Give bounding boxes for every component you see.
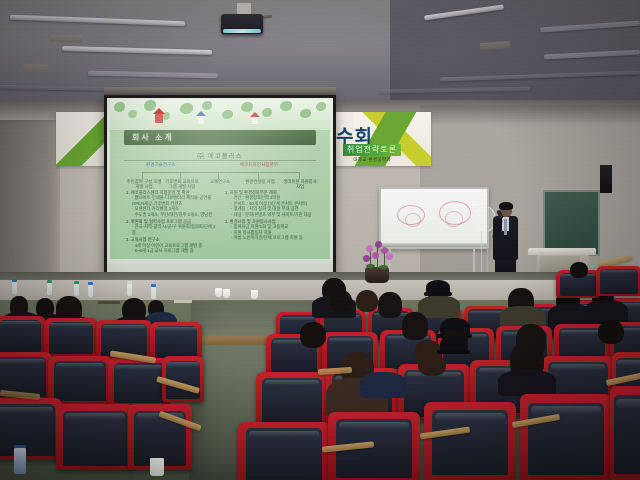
water-bottle <box>47 283 52 295</box>
ceiling-air-vent <box>50 34 82 42</box>
slide-bullet: · 5~6세 1급 교사 프로그램 개발 중 <box>126 248 218 253</box>
slide-house-roof <box>196 111 206 116</box>
slide-divider <box>124 160 316 161</box>
stage-item <box>174 300 192 303</box>
auditorium-seat <box>48 356 112 404</box>
water-bottle <box>127 284 132 296</box>
org-caption-left: 환경기술연구소 <box>146 162 176 168</box>
audience-shoulders <box>498 370 556 396</box>
banner-right-subtitle: 대학교 환경공학과 <box>353 157 391 163</box>
audience-head <box>300 322 326 348</box>
audience-head <box>402 312 428 340</box>
chalkboard-recess <box>543 190 600 256</box>
orchid-bloom <box>366 245 373 252</box>
audience-shoulders <box>360 372 406 398</box>
audience-head <box>598 320 624 344</box>
slide-house-roof <box>250 112 260 117</box>
slide-house-icon <box>198 116 204 124</box>
lectern-top <box>528 248 596 255</box>
slide-bullets-right: 1. 자원 및 환경정화부문 계획· 연간 : 환경정화인력 2억원· 콘서트 … <box>225 188 320 241</box>
orchid-leaf <box>366 264 375 268</box>
banner-right-band: 취업전략토론 <box>343 144 401 156</box>
paper-cup <box>215 288 222 297</box>
slide-bullet: · 전국·지역·광역 시/군/구 위원회/협의회/단체 3종 <box>126 224 218 235</box>
orchid-leaf <box>379 265 388 269</box>
baseball-cap <box>440 336 468 352</box>
auditorium-photo: 200 우수취업 일시 2009. 수회 취업전략토론 대학교 환경공학과 <box>0 0 640 480</box>
auditorium-seat <box>610 386 640 480</box>
slide-bullet: · 여름 노인복지관/단체 프로그램 지원 등 <box>225 235 320 240</box>
slide-subtitle: ㈜ 에코플러스 <box>110 150 330 160</box>
slide-house-icon <box>252 117 258 124</box>
orchid-bloom <box>363 255 370 262</box>
slide-org-chart: 환경기술연구소 에코디자인사업본부 주민참여 구성 모델개발 사업 기후변화 교… <box>124 162 316 184</box>
presenter-tie <box>504 219 507 235</box>
presenter-hair <box>499 202 513 210</box>
auditorium-seat <box>520 394 612 480</box>
paper-cup <box>251 290 258 299</box>
audience-head <box>356 290 378 312</box>
ceiling-projector <box>221 14 263 34</box>
slide-house-icon <box>155 114 163 123</box>
auditorium-seat <box>238 422 330 480</box>
water-bottle <box>12 282 17 294</box>
auditorium-seat <box>0 316 46 354</box>
auditorium-seat <box>256 372 328 428</box>
projector-lens <box>223 29 261 33</box>
baseball-cap <box>426 280 450 294</box>
whiteboard-stand <box>473 247 475 275</box>
ceiling-air-vent <box>22 64 48 71</box>
paper-cup <box>223 289 230 298</box>
audience-head <box>418 354 446 376</box>
auditorium-seat <box>0 398 62 460</box>
audience-head <box>330 290 352 312</box>
slide-house-roof <box>153 108 165 114</box>
audience-head <box>378 292 402 318</box>
auditorium-seat <box>56 404 134 470</box>
org-node: 교재연구소 <box>202 179 238 184</box>
water-bottle <box>74 284 79 296</box>
water-bottle <box>88 285 93 297</box>
slide-title: 회사 소개 <box>132 132 222 143</box>
slide-bullet: · 웹사이트·인쇄물·다큐멘터리 제작물·공연물 OPEN제공·기후변화 컨텐츠 <box>126 195 218 206</box>
stage-item <box>98 301 120 304</box>
wall-speaker <box>600 165 612 193</box>
auditorium-seat <box>150 322 202 360</box>
whiteboard-marker-tray <box>377 243 487 247</box>
paper-cup <box>150 458 164 476</box>
org-connector <box>142 172 300 173</box>
org-node: 환경컨설팅 사업 <box>242 179 278 184</box>
presentation-slide: 회사 소개 ㈜ 에코플러스 환경기술연구소 에코디자인사업본부 주민참여 구성 … <box>110 100 330 259</box>
audience-head <box>570 262 588 278</box>
slide-bullet: · 수도권 3개소, 부산/대전/광주 3개소, 영남권 <box>126 212 218 217</box>
water-bottle <box>14 448 26 474</box>
auditorium-seat <box>596 266 640 296</box>
slide-bullet: · 대상 : 문화/콘텐츠 외부 및 사이트/기관 대상 <box>225 212 320 217</box>
water-bottle <box>151 287 156 299</box>
slide-bullets-left: 1. 에코플러스센터 직접운영 및 확산· 웹사이트·인쇄물·다큐멘터리 제작물… <box>126 188 218 253</box>
auditorium-seat <box>424 402 516 480</box>
slide-leaf-header <box>110 100 330 130</box>
auditorium-seat <box>44 318 98 356</box>
org-caption-right: 에코디자인사업본부 <box>240 162 278 168</box>
orchid-bloom <box>386 253 393 260</box>
orchid-bloom <box>375 241 382 248</box>
whiteboard-stand <box>389 247 391 275</box>
orchid-bloom <box>372 252 379 259</box>
